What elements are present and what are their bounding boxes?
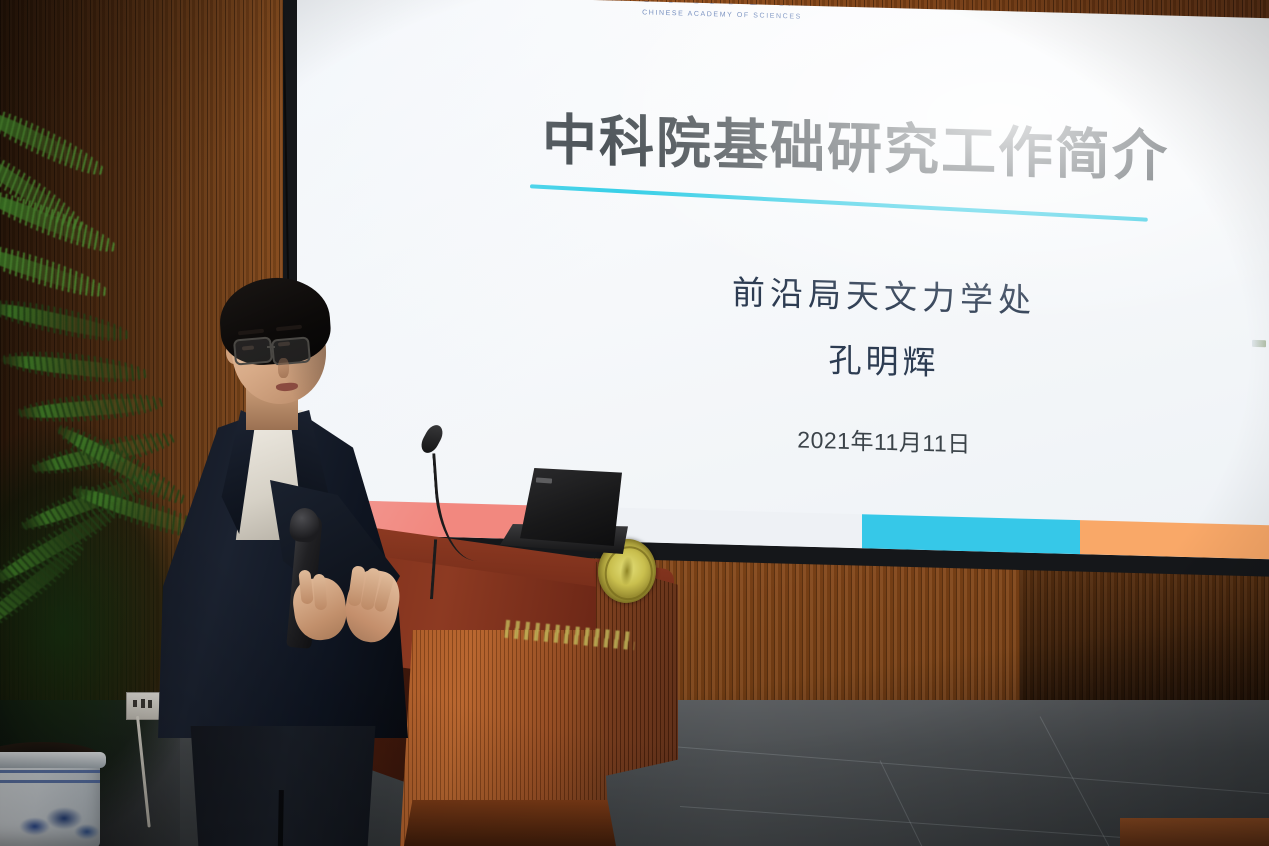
slide-date: 2021年11月11日	[694, 418, 1074, 462]
slide-presenter-name: 孔明辉	[694, 330, 1074, 388]
floor-warm-reflection	[1120, 818, 1269, 846]
slide-band-cyan	[862, 514, 1080, 554]
eyeglasses-right-lens	[271, 336, 311, 365]
palm-frond	[15, 396, 166, 421]
slide-subtitle-department: 前沿局天文力学处	[694, 265, 1074, 323]
laptop-logo	[536, 477, 552, 483]
planter-rim	[0, 752, 106, 768]
presentation-photo-scene: 中国科学院 CHINESE ACADEMY OF SCIENCES 中科院基础研…	[0, 0, 1269, 846]
presenter-nose	[278, 358, 289, 378]
slide-title: 中科院基础研究工作简介	[542, 95, 1182, 192]
presenter-finger	[313, 574, 327, 611]
podium-base	[404, 800, 616, 846]
slide-title-underline	[530, 184, 1148, 221]
planter-landscape-painting	[18, 794, 100, 846]
slide-decoration-mark	[1252, 340, 1266, 347]
planter-band	[0, 770, 100, 773]
planter-band	[0, 780, 100, 783]
presenter	[150, 270, 430, 846]
eyeglasses-bridge	[267, 346, 275, 348]
palm-frond	[0, 187, 120, 257]
eyeglasses-left-lens	[233, 336, 273, 365]
slide-band-orange	[1080, 520, 1269, 559]
outlet-slot	[141, 699, 145, 708]
blue-and-white-porcelain-planter	[0, 756, 100, 846]
palm-frond	[0, 352, 150, 383]
outlet-slot	[133, 700, 137, 707]
palm-frond	[0, 298, 132, 344]
